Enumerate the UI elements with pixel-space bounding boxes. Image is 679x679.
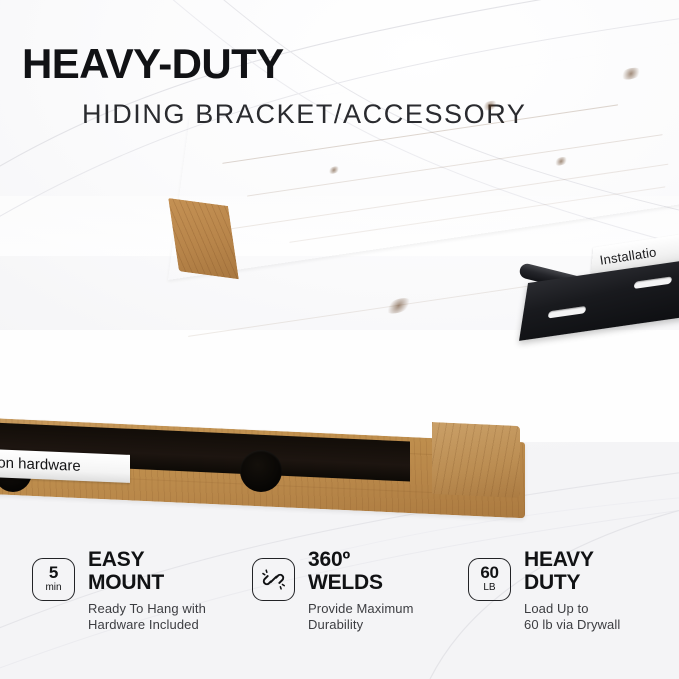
feature-description: Ready To Hang with Hardware Included — [88, 601, 206, 633]
time-badge-icon: 5 min — [32, 558, 75, 601]
installation-label-text-secondary: ion hardware — [0, 449, 130, 483]
wood-grain-line — [247, 134, 663, 196]
product-marketing-image: HEAVY-DUTY HIDING BRACKET/ACCESSORY Inst… — [0, 0, 679, 679]
installation-hardware-label-secondary: ion hardware — [0, 449, 130, 483]
feature-heading: 360º WELDS — [308, 548, 414, 594]
feature-description: Load Up to 60 lb via Drywall — [524, 601, 620, 633]
chain-link-weld-icon — [252, 558, 295, 601]
feature-360-welds: 360º WELDS Provide Maximum Durability — [252, 548, 414, 633]
badge-number: 5 — [49, 565, 58, 581]
shelf-back-end-grain — [432, 422, 520, 498]
bracket-screw-slot — [548, 306, 587, 319]
feature-description: Provide Maximum Durability — [308, 601, 414, 633]
feature-heading: EASY MOUNT — [88, 548, 206, 594]
feature-heading: HEAVY DUTY — [524, 548, 620, 594]
feature-heavy-duty: 60 LB HEAVY DUTY Load Up to 60 lb via Dr… — [468, 548, 620, 633]
wood-grain-line — [289, 186, 665, 243]
bracket-rod-hole — [240, 450, 282, 492]
wood-knot — [481, 100, 498, 112]
hero-product-photo: Installatio — [0, 120, 679, 370]
feature-list: 5 min EASY MOUNT Ready To Hang with Hard… — [0, 548, 679, 668]
badge-unit: min — [45, 582, 61, 594]
wood-knot — [328, 166, 341, 175]
page-title: HEAVY-DUTY — [22, 41, 284, 87]
wood-knot — [619, 66, 642, 81]
wood-knot — [554, 156, 569, 166]
wood-grain-line — [222, 104, 618, 163]
bracket-screw-slot — [634, 276, 673, 289]
shelf-end-cap — [168, 198, 239, 279]
feature-easy-mount: 5 min EASY MOUNT Ready To Hang with Hard… — [32, 548, 206, 633]
badge-number: 60 — [480, 565, 498, 581]
badge-unit: LB — [483, 582, 495, 594]
weight-capacity-badge-icon: 60 LB — [468, 558, 511, 601]
wood-grain-line — [193, 164, 668, 235]
